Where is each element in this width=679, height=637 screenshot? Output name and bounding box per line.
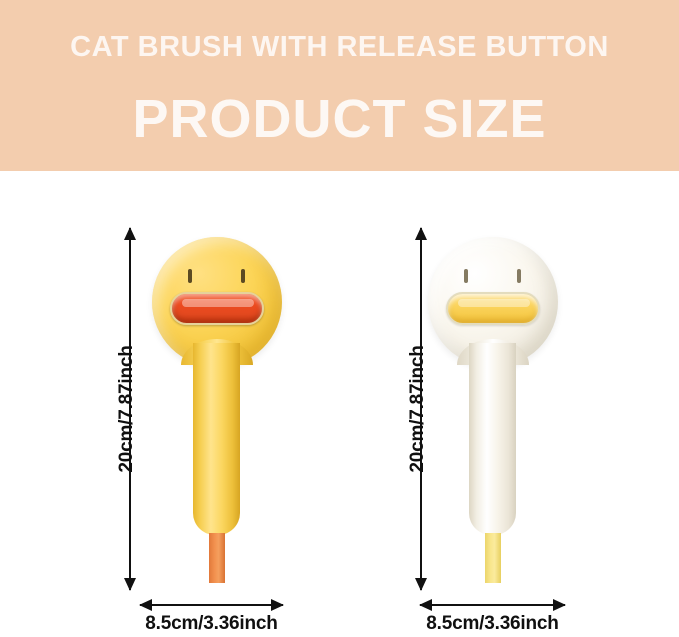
- arrow-down-icon: [124, 578, 136, 591]
- bristle-strip-yellow: [209, 533, 225, 583]
- eye-right-icon: [517, 269, 521, 283]
- arrow-right-icon: [271, 599, 284, 611]
- release-button-gloss: [458, 299, 530, 307]
- width-label-white: 8.5cm/3.36inch: [420, 613, 565, 635]
- arrow-up-icon: [124, 227, 136, 240]
- release-button-yellow[interactable]: [170, 292, 264, 325]
- dimension-line-horizontal: [140, 604, 283, 606]
- header-subtitle: CAT BRUSH WITH RELEASE BUTTON: [0, 30, 679, 64]
- product-white-cat-brush: 20cm/7.87inch 8.5cm/3.36inch: [375, 171, 615, 637]
- height-label-yellow: 20cm/7.87inch: [116, 314, 138, 504]
- height-label-white: 20cm/7.87inch: [407, 314, 429, 504]
- arrow-down-icon: [415, 578, 427, 591]
- brush-handle-yellow: [193, 343, 240, 535]
- release-button-gloss: [182, 299, 254, 307]
- product-yellow-cat-brush: 20cm/7.87inch 8.5cm/3.36inch: [90, 171, 330, 637]
- page-title: PRODUCT SIZE: [0, 88, 679, 150]
- release-button-white[interactable]: [446, 292, 540, 325]
- eye-left-icon: [464, 269, 468, 283]
- dimension-line-horizontal: [420, 604, 565, 606]
- arrow-left-icon: [419, 599, 432, 611]
- bristle-strip-white: [485, 533, 501, 583]
- header-banner: CAT BRUSH WITH RELEASE BUTTON PRODUCT SI…: [0, 0, 679, 171]
- arrow-left-icon: [139, 599, 152, 611]
- eye-left-icon: [188, 269, 192, 283]
- brush-handle-white: [469, 343, 516, 535]
- eye-right-icon: [241, 269, 245, 283]
- product-stage: 20cm/7.87inch 8.5cm/3.36inch 20cm/7.87in…: [0, 171, 679, 637]
- arrow-up-icon: [415, 227, 427, 240]
- width-label-yellow: 8.5cm/3.36inch: [140, 613, 283, 635]
- arrow-right-icon: [553, 599, 566, 611]
